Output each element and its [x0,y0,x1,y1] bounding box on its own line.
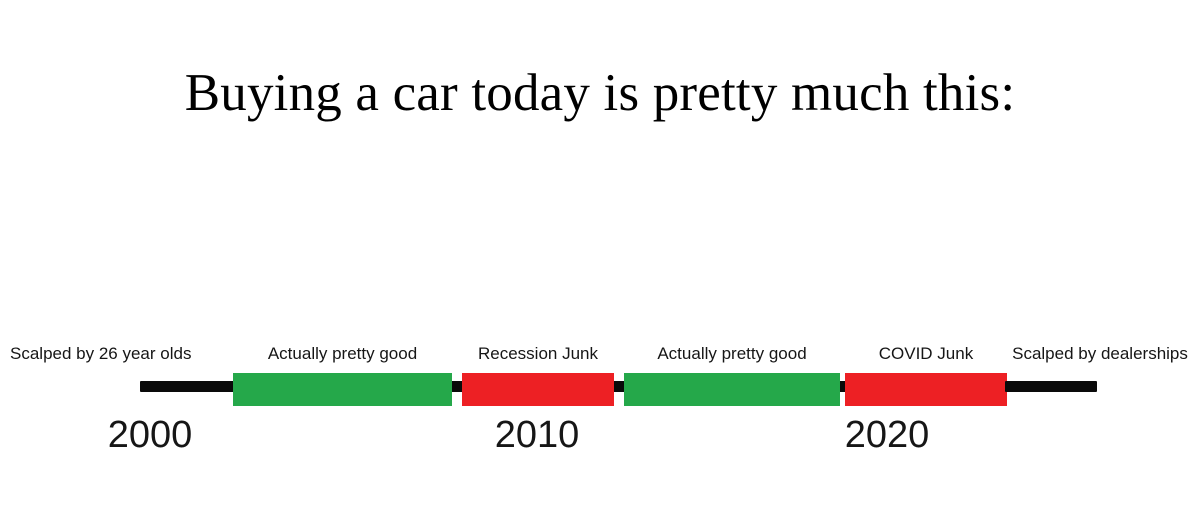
timeline-segment-good-1 [233,373,452,406]
segment-label-scalped-by-26-year-olds: Scalped by 26 year olds [10,344,190,364]
timeline-separator-1 [452,381,462,392]
timeline-left-end-line [140,381,235,392]
segment-label-scalped-by-dealerships: Scalped by dealerships [1008,344,1192,364]
timeline-separator-2 [614,381,624,392]
segment-label-actually-pretty-good-1: Actually pretty good [233,344,452,364]
year-tick-2020: 2020 [822,412,952,458]
year-tick-2010: 2010 [472,412,602,458]
timeline-segment-recession-junk [462,373,614,406]
segment-label-recession-junk: Recession Junk [462,344,614,364]
segment-label-actually-pretty-good-2: Actually pretty good [624,344,840,364]
timeline-segment-good-2 [624,373,840,406]
meme-canvas: Buying a car today is pretty much this: … [0,0,1200,526]
segment-label-covid-junk: COVID Junk [845,344,1007,364]
timeline-diagram: Scalped by 26 year olds Actually pretty … [0,0,1200,526]
timeline-segment-covid-junk [845,373,1007,406]
timeline-right-end-line [1005,381,1097,392]
year-tick-2000: 2000 [85,412,215,458]
